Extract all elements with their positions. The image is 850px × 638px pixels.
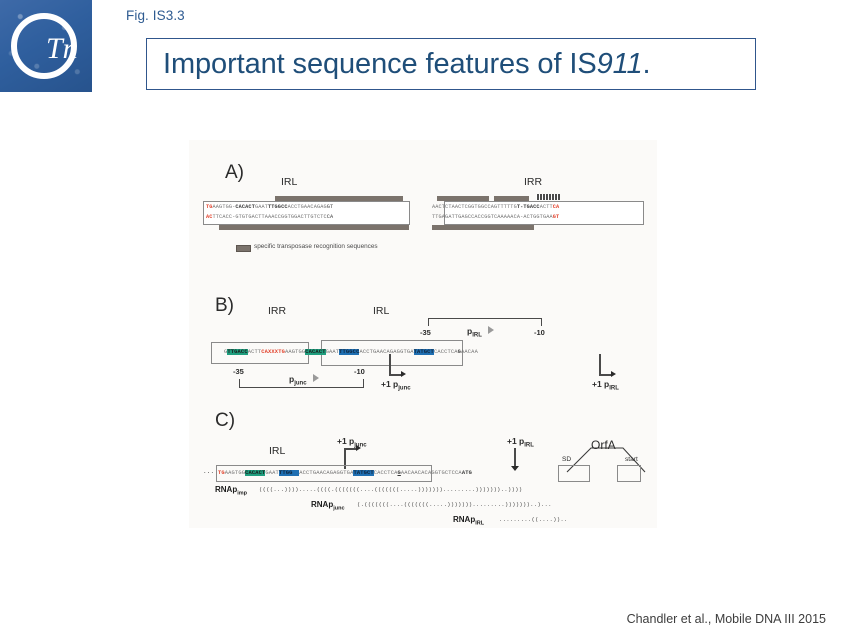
panel-a-irr-bottom-strand: TTGAGATTGAGCCACCGGTCAAAAACA-ACTGGTGAAGT: [432, 214, 559, 220]
panel-c-leader-dots: ...: [203, 468, 214, 475]
panel-c-rna-row-1-structure: (.(((((((....(((((((.....)))))))........…: [357, 501, 552, 508]
panel-c-rna-row-2-label: RNApIRL: [453, 515, 484, 527]
panel-b-promoter-irl-label: pIRL: [467, 326, 482, 339]
panel-b-start-irl-text: +1 p: [592, 379, 609, 389]
panel-b-promoter-junc-sub: junc: [294, 381, 306, 387]
panel-c-sd-box: [558, 465, 590, 482]
panel-c-start-junc-arrowhead-icon: [356, 445, 361, 451]
panel-a-legend-text: specific transposase recognition sequenc…: [254, 243, 378, 250]
panel-c-letter: C): [215, 410, 235, 432]
panel-b-start-junc-label: +1 pjunc: [381, 379, 411, 392]
panel-b-bottom-bracket-right-tick: [363, 379, 364, 388]
panel-b-label-irr: IRR: [268, 305, 286, 317]
panel-c-orfa-label: OrfA: [591, 438, 616, 452]
panel-a-irr-hatched-bar: [536, 194, 560, 200]
panel-b-top-bracket-left-tick: [428, 318, 429, 326]
panel-b-start-junc-sub: junc: [398, 386, 410, 392]
panel-b-promoter-irl-arrow-icon: [488, 326, 494, 334]
panel-b-start-irl-label: +1 pIRL: [592, 379, 619, 392]
panel-b-letter: B): [215, 295, 234, 317]
panel-c-rna-row-1-name: RNAp: [311, 500, 333, 509]
panel-c-rna-row-0-structure: ((((...)))).....((((.(((((((....(((((((.…: [259, 486, 522, 493]
panel-a-irl-bottom-recognition-bar: [219, 225, 409, 230]
panel-b-promoter-junc-label: pjunc: [289, 374, 307, 387]
panel-b-start-irl-arrowhead-icon: [611, 371, 616, 377]
panel-b-start-junc-stem: [389, 354, 391, 376]
panel-c-start-irl-label: +1 pIRL: [507, 436, 534, 449]
panel-b-promoter-junc-arrow-icon: [313, 374, 319, 382]
panel-c-start-irl-arrowhead-icon: [511, 466, 519, 471]
panel-a-letter: A): [225, 162, 244, 184]
panel-b-sequence: GTTGACCACTTCAXXXTGAAGTGGCACACTGAATTTGGCC…: [224, 349, 478, 355]
panel-c-start-irl-sub: IRL: [524, 443, 534, 449]
panel-b-start-irl-stem: [599, 354, 601, 376]
slide-title-box: Important sequence features of IS911.: [146, 38, 756, 90]
panel-c-start-codon-box: [617, 465, 641, 482]
panel-b-minus35-top: -35: [420, 328, 431, 337]
title-prefix: Important sequence features of IS: [163, 48, 597, 80]
panel-b-bottom-bracket-horizontal: [239, 387, 364, 388]
panel-a-legend-swatch: [236, 245, 251, 252]
panel-a-irl-bottom-strand: ACTTCACC-GTGTGACTTAAACCGGTGGACTTGTCTCCA: [206, 214, 333, 220]
panel-a-irr-bottom-recognition-bar: [432, 225, 534, 230]
panel-b-minus35-bottom: -35: [233, 367, 244, 376]
panel-b-top-bracket-horizontal: [428, 318, 542, 319]
panel-a-label-irl: IRL: [281, 176, 297, 188]
panel-c-sequence: TGAAGTGGCACACTGAATTTGGCCACCTGAACAGAGGTGA…: [218, 470, 472, 476]
citation-text: Chandler et al., Mobile DNA III 2015: [627, 612, 826, 626]
panel-a-label-irr: IRR: [524, 176, 542, 188]
panel-c-rna-row-1-label: RNApjunc: [311, 500, 345, 512]
panel-b-top-bracket-right-tick: [541, 318, 542, 326]
panel-b-promoter-irl-sub: IRL: [472, 333, 482, 339]
panel-a-irr-top-strand: AACTCTAACTCGGTGGCCAGTTTTTGT-TGACCACTTCA: [432, 204, 559, 210]
panel-a-irl-top-strand: TGAAGTGG-CACACTGAATTTGGCCACCTGAACAGAGGT: [206, 204, 333, 210]
svg-text:Tn: Tn: [46, 32, 78, 65]
figure-image: A) IRL IRR TGAAGTGG-CACACTGAATTTGGCCACCT…: [189, 140, 657, 528]
ctn-logo: Tn: [0, 0, 92, 92]
page-title: Important sequence features of IS911.: [147, 48, 650, 81]
panel-c-start-junc-text: +1 p: [337, 436, 354, 446]
panel-b-start-irl-sub: IRL: [609, 386, 619, 392]
panel-c-sd-label: SD: [562, 456, 571, 463]
panel-c-rna-row-2-name: RNAp: [453, 515, 475, 524]
panel-c-rna-row-1-sub: junc: [333, 506, 344, 512]
panel-b-start-junc-arrowhead-icon: [401, 371, 406, 377]
panel-b-label-irl: IRL: [373, 305, 389, 317]
panel-c-rna-row-2-structure: .........((....))..: [499, 516, 568, 523]
ctn-logo-mark: Tn: [0, 0, 92, 92]
panel-c-rna-row-0-name: RNAp: [215, 485, 237, 494]
panel-c-start-irl-text: +1 p: [507, 436, 524, 446]
panel-c-rna-row-0-label: RNApimp: [215, 485, 247, 497]
panel-c-rna-row-0-sub: imp: [237, 491, 247, 497]
panel-b-minus10-top: -10: [534, 328, 545, 337]
panel-c-start-junc-label: +1 pjunc: [337, 436, 367, 449]
panel-c-label-irl: IRL: [269, 445, 285, 457]
panel-c-rna-row-2-sub: IRL: [475, 521, 484, 527]
title-suffix: .: [643, 48, 651, 80]
panel-b-minus10-bottom: -10: [354, 367, 365, 376]
panel-b-start-junc-text: +1 p: [381, 379, 398, 389]
figure-number-label: Fig. IS3.3: [126, 8, 185, 23]
title-italic-part: 911: [597, 48, 643, 80]
panel-b-bottom-bracket-left-tick: [239, 379, 240, 388]
panel-c-start-label: start: [625, 456, 638, 463]
